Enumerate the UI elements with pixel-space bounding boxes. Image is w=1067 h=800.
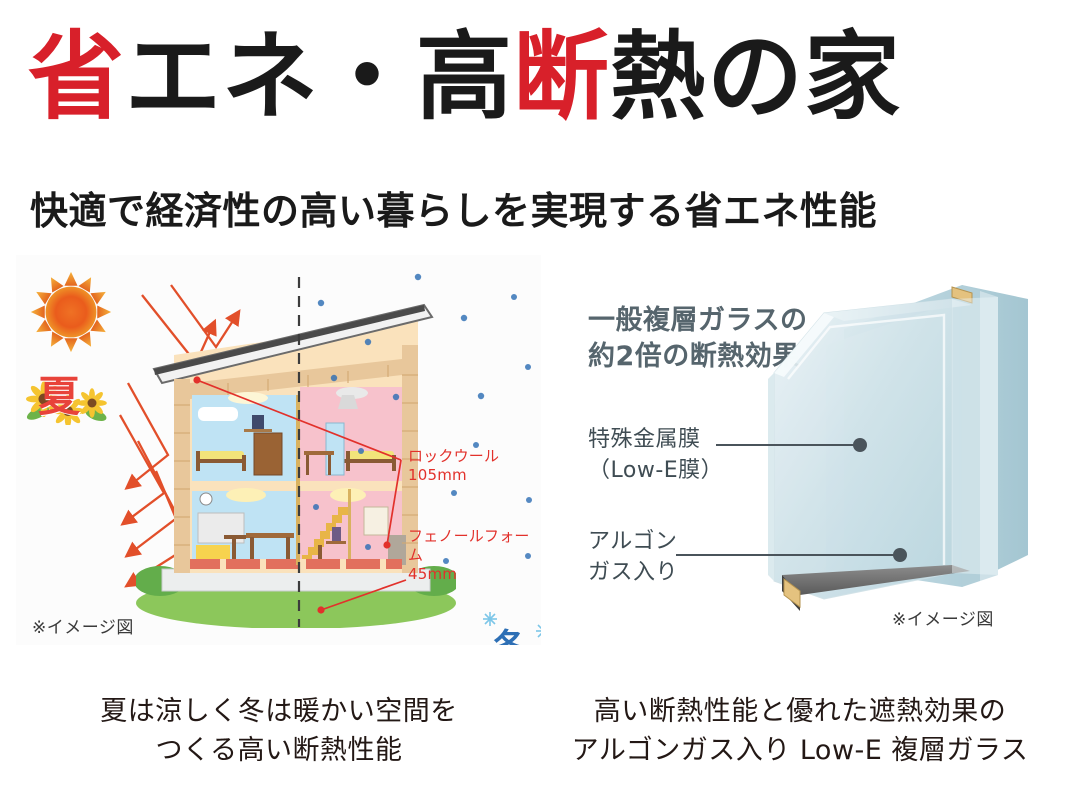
image-note-left: ※イメージ図	[32, 613, 134, 638]
house-illustration-panel: 夏	[16, 255, 541, 645]
caption-left: 夏は涼しく冬は暖かい空間を つくる高い断熱性能	[14, 692, 544, 770]
title-part-2: エネ・高	[125, 24, 513, 131]
title-part-3: 断	[513, 24, 610, 131]
page-subtitle: 快適で経済性の高い暮らしを実現する省エネ性能	[30, 180, 1030, 235]
image-note-right: ※イメージ図	[892, 605, 994, 630]
title-part-1: 省	[28, 24, 125, 131]
page-title: 省エネ・高断熱の家	[28, 28, 1028, 129]
title-part-4: 熱の家	[610, 24, 901, 131]
callout-rockwool: ロックウール 105mm	[408, 447, 499, 485]
caption-right: 高い断熱性能と優れた遮熱効果の アルゴンガス入り Low-E 複層ガラス	[540, 692, 1060, 770]
callout-phenolic-foam: フェノールフォーム 45mm	[408, 527, 541, 583]
glass-illustration-panel: 一般複層ガラスの 約2倍の断熱効果 特殊金属膜 （Low-E膜） アルゴン ガス…	[556, 255, 1061, 645]
glass-leader-lines	[556, 255, 1061, 645]
